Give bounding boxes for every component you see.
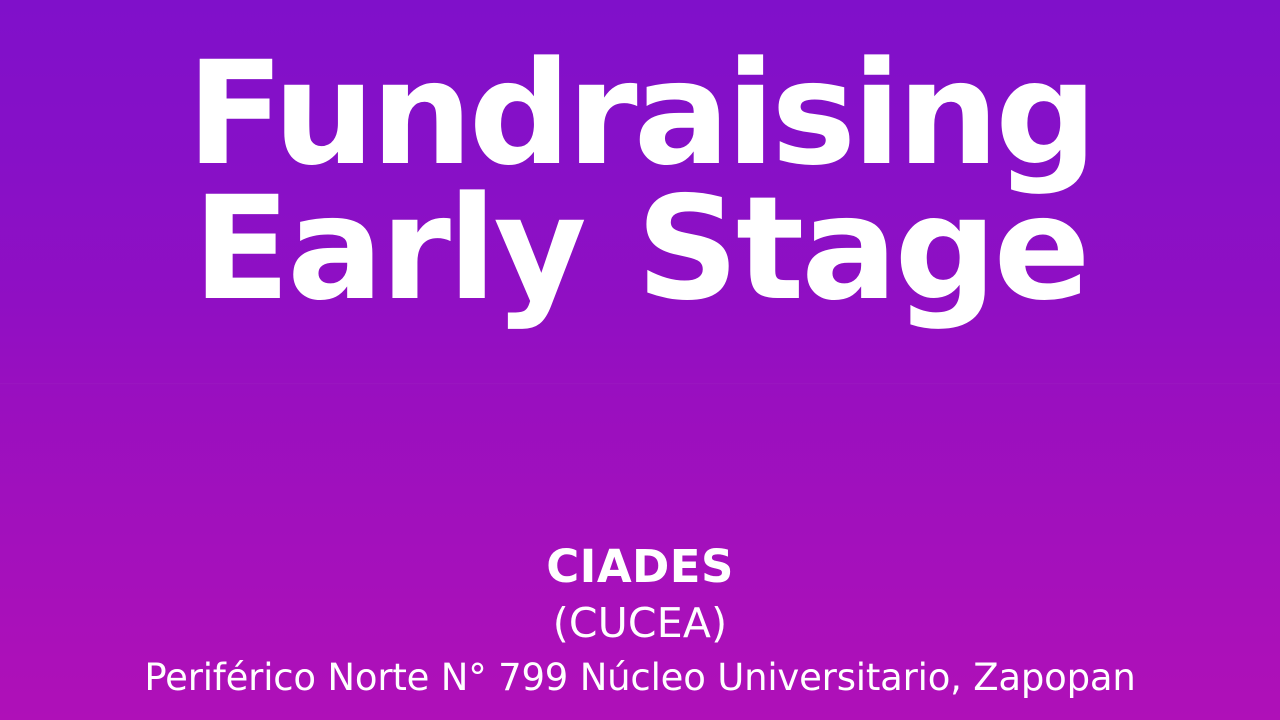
- gradient-seam: [0, 383, 1280, 385]
- slide-footer: CIADES (CUCEA) Periférico Norte N° 799 N…: [0, 541, 1280, 702]
- slide-headline: Fundraising Early Stage: [0, 46, 1280, 316]
- organization-address: Periférico Norte N° 799 Núcleo Universit…: [0, 654, 1280, 702]
- title-slide: Fundraising Early Stage CIADES (CUCEA) P…: [0, 0, 1280, 720]
- headline-line-1: Fundraising: [0, 46, 1280, 181]
- organization-name: CIADES: [0, 541, 1280, 593]
- headline-line-2: Early Stage: [0, 181, 1280, 316]
- organization-unit: (CUCEA): [0, 597, 1280, 649]
